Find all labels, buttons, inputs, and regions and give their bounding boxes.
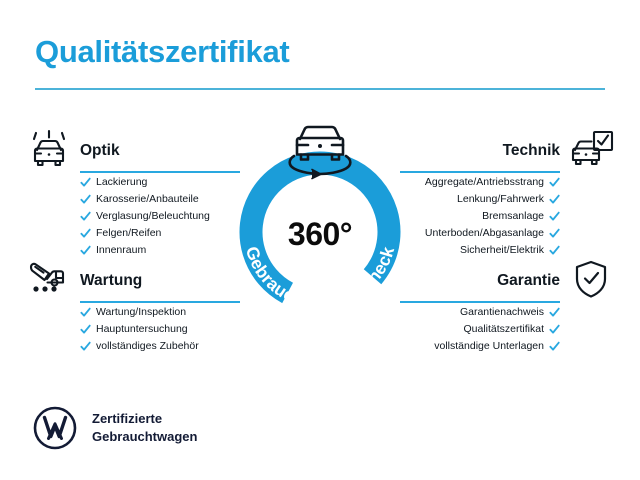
list-item-label: Lenkung/Fahrwerk <box>457 194 544 205</box>
volkswagen-lockup: Zertifizierte Gebrauchtwagen <box>32 405 197 451</box>
list-item: Qualitätszertifikat <box>400 321 615 338</box>
list-item: Wartung/Inspektion <box>25 304 240 321</box>
section-garantie: Garantie Garantienachweis Qualitätszerti… <box>400 258 615 355</box>
section-optik-title: Optik <box>80 142 120 160</box>
list-item: Verglasung/Beleuchtung <box>25 208 240 225</box>
list-item-label: Wartung/Inspektion <box>96 307 186 318</box>
section-garantie-divider <box>400 301 560 303</box>
section-optik-list: Lackierung Karosserie/Anbauteile Verglas… <box>25 174 240 259</box>
list-item-label: Innenraum <box>96 245 146 256</box>
check-icon <box>80 324 91 335</box>
list-item-label: vollständiges Zubehör <box>96 341 199 352</box>
check-icon <box>80 228 91 239</box>
list-item-label: Karosserie/Anbauteile <box>96 194 199 205</box>
section-technik-title: Technik <box>503 142 560 160</box>
check-icon <box>549 194 560 205</box>
header-divider <box>35 88 605 90</box>
list-item: Bremsanlage <box>400 208 615 225</box>
badge-degrees: 360° <box>228 216 412 253</box>
page-title: Qualitätszertifikat <box>35 34 289 70</box>
list-item-label: Aggregate/Antriebsstrang <box>425 177 544 188</box>
list-item: Garantienachweis <box>400 304 615 321</box>
check-icon <box>549 341 560 352</box>
list-item: vollständige Unterlagen <box>400 338 615 355</box>
check-icon <box>80 194 91 205</box>
check-icon <box>549 177 560 188</box>
list-item: Karosserie/Anbauteile <box>25 191 240 208</box>
list-item: Felgen/Reifen <box>25 225 240 242</box>
section-optik-divider <box>80 171 240 173</box>
check-icon <box>549 307 560 318</box>
section-garantie-title: Garantie <box>497 272 560 290</box>
section-wartung-title: Wartung <box>80 272 142 290</box>
car-checkbox-icon <box>567 128 615 172</box>
section-wartung-divider <box>80 301 240 303</box>
footer-text: Zertifizierte Gebrauchtwagen <box>92 410 197 445</box>
list-item: Hauptuntersuchung <box>25 321 240 338</box>
section-wartung-list: Wartung/Inspektion Hauptuntersuchung vol… <box>25 304 240 355</box>
check-icon <box>549 324 560 335</box>
section-optik: Optik Lackierung Karosserie/Anbauteile <box>25 128 240 259</box>
list-item: Lenkung/Fahrwerk <box>400 191 615 208</box>
check-icon <box>80 177 91 188</box>
check-icon <box>80 245 91 256</box>
wrench-car-icon <box>25 258 73 302</box>
car-shine-icon <box>25 128 73 172</box>
list-item: Lackierung <box>25 174 240 191</box>
section-garantie-header: Garantie <box>400 258 615 304</box>
shield-check-icon <box>567 258 615 302</box>
volkswagen-logo <box>32 405 78 451</box>
section-garantie-list: Garantienachweis Qualitätszertifikat vol… <box>400 304 615 355</box>
check-icon <box>80 211 91 222</box>
list-item-label: Lackierung <box>96 177 147 188</box>
check-icon <box>549 245 560 256</box>
list-item: vollständiges Zubehör <box>25 338 240 355</box>
list-item-label: Bremsanlage <box>482 211 544 222</box>
list-item-label: Unterboden/Abgasanlage <box>425 228 544 239</box>
section-wartung-header: Wartung <box>25 258 240 304</box>
check-icon <box>549 211 560 222</box>
footer-line-1: Zertifizierte <box>92 410 197 428</box>
qualitaetszertifikat-page: Qualitätszertifikat Optik <box>0 0 640 480</box>
footer-line-2: Gebrauchtwagen <box>92 428 197 446</box>
section-optik-header: Optik <box>25 128 240 174</box>
section-technik-divider <box>400 171 560 173</box>
section-wartung: Wartung Wartung/Inspektion Hauptuntersuc… <box>25 258 240 355</box>
check-icon <box>80 307 91 318</box>
check-icon <box>549 228 560 239</box>
section-technik: Technik Aggregate/Antriebsstrang Lenkung… <box>400 128 615 259</box>
list-item-label: Qualitätszertifikat <box>463 324 544 335</box>
list-item: Unterboden/Abgasanlage <box>400 225 615 242</box>
list-item-label: Hauptuntersuchung <box>96 324 188 335</box>
section-technik-list: Aggregate/Antriebsstrang Lenkung/Fahrwer… <box>400 174 615 259</box>
list-item-label: Verglasung/Beleuchtung <box>96 211 210 222</box>
list-item: Sicherheit/Elektrik <box>400 242 615 259</box>
list-item-label: Garantienachweis <box>460 307 544 318</box>
check-icon <box>80 341 91 352</box>
section-technik-header: Technik <box>400 128 615 174</box>
list-item-label: Felgen/Reifen <box>96 228 161 239</box>
list-item: Innenraum <box>25 242 240 259</box>
list-item: Aggregate/Antriebsstrang <box>400 174 615 191</box>
list-item-label: Sicherheit/Elektrik <box>460 245 544 256</box>
list-item-label: vollständige Unterlagen <box>434 341 544 352</box>
gebrauchtwagen-check-badge: Gebrauchtwagen-Check 360° <box>228 112 412 308</box>
